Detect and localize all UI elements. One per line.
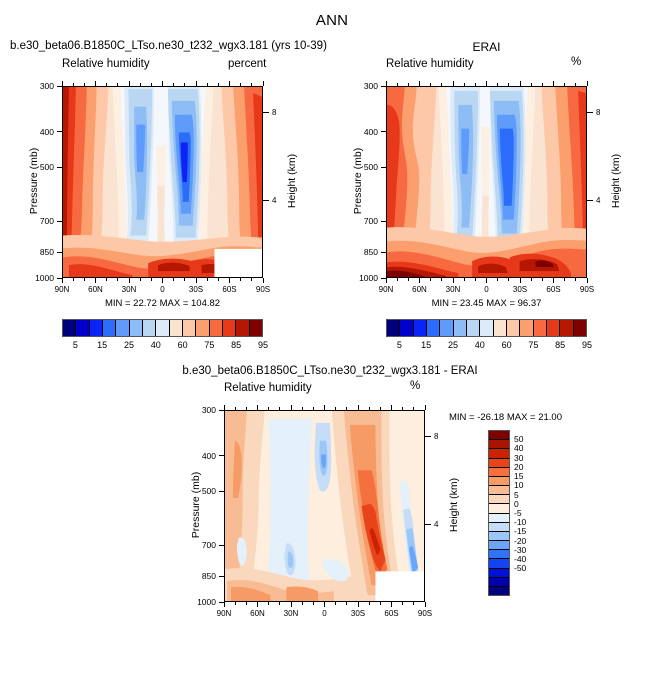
colorbar-tick-label: 30 <box>514 454 523 462</box>
panel-model-unit-label: percent <box>228 58 266 70</box>
plot-diff-ylabel-tick: 1000 <box>188 597 216 607</box>
plot-diff-relative-humidity <box>224 410 425 602</box>
colorbar-swatch <box>560 320 573 336</box>
plot-model-relative-humidity <box>62 86 263 278</box>
plot-diff-xlabel: 90S <box>413 609 437 618</box>
colorbar-tick-label: 40 <box>514 444 523 452</box>
colorbar-diff <box>488 430 510 596</box>
plot-model-xtick <box>229 81 230 86</box>
plot-diff-ytick <box>219 545 224 546</box>
plot-model-ytick <box>57 167 62 168</box>
panel-diff-title: b.e30_beta06.B1850C_LTso.ne30_t232_wgx3.… <box>120 365 540 377</box>
plot-obs-xtick-minor <box>497 83 498 86</box>
plot-model-xtick-minor <box>151 83 152 86</box>
plot-obs-xtick <box>587 81 588 86</box>
main-title: ANN <box>0 12 664 29</box>
colorbar-tick-label: 75 <box>528 340 538 350</box>
plot-diff-xtick-minor <box>380 407 381 410</box>
plot-model-xtick-minor <box>73 278 74 281</box>
colorbar-swatch <box>76 320 89 336</box>
plot-obs-xtick-minor <box>542 278 543 281</box>
colorbar-swatch <box>489 440 509 449</box>
plot-obs-ytick <box>381 86 386 87</box>
colorbar-swatch <box>400 320 413 336</box>
colorbar-swatch <box>494 320 507 336</box>
plot-obs-xtick-minor <box>575 278 576 281</box>
plot-obs-xlabel: 0 <box>475 285 499 294</box>
plot-model-xtick-minor <box>218 278 219 281</box>
colorbar-swatch <box>440 320 453 336</box>
plot-obs-xtick-minor <box>464 83 465 86</box>
panel-model-variable-label: Relative humidity <box>62 58 150 70</box>
colorbar-tick-label: 60 <box>502 340 512 350</box>
plot-diff-xtick <box>291 405 292 410</box>
plot-obs-xlabel: 60S <box>542 285 566 294</box>
colorbar-tick-label: 15 <box>421 340 431 350</box>
plot-diff-xtick <box>425 602 426 607</box>
panel-obs-variable-label: Relative humidity <box>386 58 474 70</box>
plot-obs-xtick <box>386 278 387 283</box>
plot-diff-xtick-minor <box>302 602 303 605</box>
plot-model-ytick <box>57 278 62 279</box>
plot-model-ytick <box>57 86 62 87</box>
plot-diff-xtick <box>257 602 258 607</box>
colorbar-tick-label: -40 <box>514 555 526 563</box>
plot-obs-xtick-minor <box>542 83 543 86</box>
colorbar-tick-label: 85 <box>555 340 565 350</box>
colorbar-tick-label: 0 <box>514 500 519 508</box>
colorbar-model-labels: 515254060758595 <box>62 340 263 354</box>
colorbar-swatch <box>170 320 183 336</box>
plot-model-xtick-minor <box>84 278 85 281</box>
colorbar-swatch <box>489 468 509 477</box>
plot-diff-xtick-minor <box>268 602 269 605</box>
plot-model-xtick-minor <box>106 83 107 86</box>
plot-model-xtick <box>129 81 130 86</box>
plot-obs-ylabel-tick: 400 <box>350 127 378 137</box>
colorbar-tick-label: 20 <box>514 463 523 471</box>
panel-obs-unit-label: % <box>571 56 581 68</box>
plot-model-xtick-minor <box>117 278 118 281</box>
colorbar-swatch <box>63 320 76 336</box>
plot-obs-xtick-minor <box>408 278 409 281</box>
plot-model-ytick <box>57 252 62 253</box>
colorbar-tick-label: 5 <box>73 340 78 350</box>
colorbar-tick-label: 95 <box>582 340 592 350</box>
plot-model-ylabel-tick: 400 <box>26 127 54 137</box>
plot-obs-y2label: Height (km) <box>610 121 622 241</box>
plot-diff-xtick <box>324 602 325 607</box>
plot-diff-ytick <box>219 576 224 577</box>
plot-diff-xtick-minor <box>246 407 247 410</box>
colorbar-tick-label: 95 <box>258 340 268 350</box>
plot-obs-xtick <box>520 278 521 283</box>
colorbar-tick-label: 15 <box>97 340 107 350</box>
colorbar-swatch <box>90 320 103 336</box>
plot-obs-y2tick <box>587 200 593 201</box>
plot-model-xlabel: 90N <box>50 285 74 294</box>
colorbar-tick-label: 40 <box>475 340 485 350</box>
colorbar-tick-label: 10 <box>514 481 523 489</box>
colorbar-swatch <box>454 320 467 336</box>
plot-diff-xtick <box>358 405 359 410</box>
colorbar-swatch <box>210 320 223 336</box>
plot-obs-xtick <box>520 81 521 86</box>
plot-obs-xtick-minor <box>475 83 476 86</box>
colorbar-swatch <box>183 320 196 336</box>
plot-model-ylabel-tick: 500 <box>26 162 54 172</box>
colorbar-swatch <box>489 504 509 513</box>
colorbar-swatch <box>489 587 509 595</box>
colorbar-tick-label: -10 <box>514 518 526 526</box>
plot-obs-xlabel: 90S <box>575 285 599 294</box>
plot-diff-xtick <box>391 602 392 607</box>
panel-model-title: b.e30_beta06.B1850C_LTso.ne30_t232_wgx3.… <box>10 40 327 52</box>
colorbar-swatch <box>534 320 547 336</box>
colorbar-swatch <box>489 431 509 440</box>
plot-diff-xlabel: 30N <box>279 609 303 618</box>
plot-obs-xtick-minor <box>497 278 498 281</box>
plot-obs-ylabel-tick: 1000 <box>350 273 378 283</box>
plot-diff-xtick-minor <box>346 602 347 605</box>
plot-model-xtick-minor <box>251 83 252 86</box>
plot-diff-ylabel-tick: 850 <box>188 571 216 581</box>
plot-obs-xtick <box>486 81 487 86</box>
plot-diff-xtick-minor <box>380 602 381 605</box>
plot-obs-xtick-minor <box>441 278 442 281</box>
plot-obs-xtick-minor <box>430 83 431 86</box>
colorbar-swatch <box>480 320 493 336</box>
colorbar-swatch <box>103 320 116 336</box>
plot-obs-ylabel-tick: 500 <box>350 162 378 172</box>
plot-obs-xlabel: 30N <box>441 285 465 294</box>
plot-obs-xtick <box>553 81 554 86</box>
colorbar-tick-label: 40 <box>151 340 161 350</box>
plot-obs-y2tick <box>587 112 593 113</box>
plot-model-xtick-minor <box>251 278 252 281</box>
colorbar-tick-label: 5 <box>514 491 519 499</box>
plot-diff-y2tick <box>425 524 431 525</box>
plot-diff-xtick <box>358 602 359 607</box>
plot-diff-xlabel: 30S <box>346 609 370 618</box>
plot-obs-xtick-minor <box>531 83 532 86</box>
plot-obs-ylabel-tick: 850 <box>350 247 378 257</box>
plot-diff-xtick-minor <box>402 407 403 410</box>
plot-obs-xtick-minor <box>430 278 431 281</box>
plot-diff-xtick-minor <box>335 602 336 605</box>
plot-diff-xtick <box>391 405 392 410</box>
plot-model-xtick-minor <box>140 83 141 86</box>
plot-obs-y2label-tick: 4 <box>596 196 600 205</box>
plot-obs-xtick-minor <box>531 278 532 281</box>
plot-obs-xtick-minor <box>397 83 398 86</box>
colorbar-tick-label: 25 <box>448 340 458 350</box>
plot-diff-xtick <box>224 602 225 607</box>
plot-model-xlabel: 90S <box>251 285 275 294</box>
plot-model-xtick <box>263 278 264 283</box>
plot-diff-xlabel: 0 <box>313 609 337 618</box>
colorbar-model <box>62 319 263 337</box>
plot-model-xtick-minor <box>106 278 107 281</box>
colorbar-swatch <box>143 320 156 336</box>
plot-diff-minmax: MIN = -26.18 MAX = 21.00 <box>449 412 562 423</box>
plot-model-xtick-minor <box>117 83 118 86</box>
plot-model-xtick-minor <box>207 83 208 86</box>
plot-obs-xtick-minor <box>441 83 442 86</box>
colorbar-swatch <box>156 320 169 336</box>
plot-obs-xtick-minor <box>408 83 409 86</box>
colorbar-swatch <box>489 559 509 568</box>
plot-obs-xlabel: 60N <box>408 285 432 294</box>
plot-model-xlabel: 30S <box>184 285 208 294</box>
plot-model-xtick-minor <box>207 278 208 281</box>
colorbar-swatch <box>489 523 509 532</box>
plot-diff-y2tick <box>425 436 431 437</box>
plot-model-xtick <box>263 81 264 86</box>
plot-obs-xlabel: 30S <box>508 285 532 294</box>
plot-model-ylabel-tick: 700 <box>26 216 54 226</box>
plot-model-xtick <box>196 278 197 283</box>
colorbar-swatch <box>489 486 509 495</box>
colorbar-tick-label: 50 <box>514 435 523 443</box>
plot-model-xtick <box>95 81 96 86</box>
colorbar-swatch <box>489 477 509 486</box>
plot-model-y2tick <box>263 112 269 113</box>
plot-model-minmax: MIN = 22.72 MAX = 104.82 <box>62 298 263 309</box>
plot-model-xlabel: 0 <box>151 285 175 294</box>
plot-model-xtick-minor <box>173 278 174 281</box>
plot-obs-xtick <box>587 278 588 283</box>
plot-diff-ytick <box>219 602 224 603</box>
plot-obs-xtick-minor <box>475 278 476 281</box>
colorbar-tick-label: -50 <box>514 564 526 572</box>
plot-obs-ytick <box>381 221 386 222</box>
plot-model-ylabel-tick: 300 <box>26 81 54 91</box>
plot-obs-xtick <box>419 278 420 283</box>
colorbar-obs-labels: 515254060758595 <box>386 340 587 354</box>
plot-obs-ylabel-tick: 700 <box>350 216 378 226</box>
plot-diff-ytick <box>219 455 224 456</box>
colorbar-swatch <box>489 495 509 504</box>
colorbar-tick-label: -15 <box>514 527 526 535</box>
plot-diff-xtick <box>425 405 426 410</box>
plot-diff-xlabel: 60N <box>246 609 270 618</box>
plot-obs-y2label-tick: 8 <box>596 108 600 117</box>
plot-obs-xtick-minor <box>397 278 398 281</box>
colorbar-swatch <box>414 320 427 336</box>
plot-obs-ytick <box>381 252 386 253</box>
plot-diff-xtick-minor <box>335 407 336 410</box>
plot-obs-xtick <box>553 278 554 283</box>
colorbar-swatch <box>489 541 509 550</box>
plot-model-xlabel: 30N <box>117 285 141 294</box>
plot-model-y2label: Height (km) <box>286 121 298 241</box>
plot-diff-xtick-minor <box>246 602 247 605</box>
plot-obs-contours <box>387 87 586 277</box>
plot-model-contours <box>63 87 262 277</box>
plot-diff-ylabel-tick: 300 <box>188 405 216 415</box>
colorbar-swatch <box>130 320 143 336</box>
colorbar-diff-labels: 50403020151050-5-10-15-20-30-40-50 <box>514 430 554 596</box>
colorbar-swatch <box>196 320 209 336</box>
plot-diff-ylabel-tick: 500 <box>188 486 216 496</box>
plot-obs-minmax: MIN = 23.45 MAX = 96.37 <box>386 298 587 309</box>
plot-model-xtick-minor <box>173 83 174 86</box>
plot-obs-xtick-minor <box>464 278 465 281</box>
plot-diff-xtick-minor <box>369 407 370 410</box>
plot-model-xtick <box>196 81 197 86</box>
plot-diff-xtick-minor <box>369 602 370 605</box>
plot-obs-xtick-minor <box>508 278 509 281</box>
plot-diff-xtick-minor <box>279 602 280 605</box>
plot-diff-xtick-minor <box>268 407 269 410</box>
plot-diff-xtick-minor <box>402 602 403 605</box>
colorbar-swatch <box>250 320 262 336</box>
plot-model-xtick <box>162 278 163 283</box>
plot-diff-xtick-minor <box>279 407 280 410</box>
plot-obs-ytick <box>381 278 386 279</box>
plot-obs-xtick <box>486 278 487 283</box>
plot-model-xtick-minor <box>84 83 85 86</box>
colorbar-tick-label: 25 <box>124 340 134 350</box>
plot-obs-xtick-minor <box>564 278 565 281</box>
colorbar-tick-label: 60 <box>178 340 188 350</box>
plot-model-xtick-minor <box>184 83 185 86</box>
plot-model-xtick <box>229 278 230 283</box>
plot-diff-y2label-tick: 8 <box>434 432 438 441</box>
colorbar-swatch <box>489 569 509 578</box>
plot-model-ylabel-tick: 1000 <box>26 273 54 283</box>
plot-obs-relative-humidity <box>386 86 587 278</box>
colorbar-swatch <box>489 459 509 468</box>
plot-diff-xtick <box>324 405 325 410</box>
plot-diff-y2label-tick: 4 <box>434 520 438 529</box>
plot-model-y2label-tick: 4 <box>272 196 276 205</box>
plot-diff-ytick <box>219 491 224 492</box>
plot-diff-xtick-minor <box>413 602 414 605</box>
colorbar-tick-label: 5 <box>397 340 402 350</box>
colorbar-swatch <box>489 514 509 523</box>
colorbar-obs <box>386 319 587 337</box>
plot-model-ytick <box>57 131 62 132</box>
plot-model-xlabel: 60N <box>84 285 108 294</box>
plot-diff-ylabel-tick: 400 <box>188 451 216 461</box>
plot-diff-xlabel: 60S <box>380 609 404 618</box>
plot-obs-xtick <box>419 81 420 86</box>
plot-model-xtick-minor <box>151 278 152 281</box>
plot-diff-ytick <box>219 410 224 411</box>
plot-model-xtick-minor <box>73 83 74 86</box>
plot-model-xtick-minor <box>184 278 185 281</box>
panel-diff-unit-label: % <box>410 380 420 392</box>
plot-obs-xtick <box>453 81 454 86</box>
colorbar-swatch <box>489 550 509 559</box>
plot-model-xtick <box>162 81 163 86</box>
plot-diff-xtick-minor <box>413 407 414 410</box>
colorbar-swatch <box>520 320 533 336</box>
plot-model-xtick <box>62 278 63 283</box>
colorbar-swatch <box>489 578 509 587</box>
plot-diff-xtick-minor <box>313 602 314 605</box>
colorbar-tick-label: 75 <box>204 340 214 350</box>
plot-diff-xtick <box>257 405 258 410</box>
plot-model-xtick-minor <box>240 83 241 86</box>
colorbar-swatch <box>507 320 520 336</box>
plot-diff-contours <box>225 411 424 601</box>
plot-model-y2tick <box>263 200 269 201</box>
colorbar-swatch <box>489 449 509 458</box>
plot-diff-xlabel: 90N <box>212 609 236 618</box>
colorbar-swatch <box>574 320 586 336</box>
colorbar-swatch <box>427 320 440 336</box>
colorbar-swatch <box>547 320 560 336</box>
plot-model-y2label-tick: 8 <box>272 108 276 117</box>
plot-obs-ytick <box>381 167 386 168</box>
plot-diff-y2label: Height (km) <box>448 445 460 565</box>
plot-obs-xtick <box>453 278 454 283</box>
plot-diff-xtick <box>291 602 292 607</box>
colorbar-swatch <box>223 320 236 336</box>
plot-diff-xtick-minor <box>313 407 314 410</box>
colorbar-tick-label: 15 <box>514 472 523 480</box>
plot-model-ylabel-tick: 850 <box>26 247 54 257</box>
plot-obs-xtick-minor <box>575 83 576 86</box>
plot-diff-xtick-minor <box>235 407 236 410</box>
plot-obs-ylabel-tick: 300 <box>350 81 378 91</box>
plot-model-xtick-minor <box>240 278 241 281</box>
colorbar-swatch <box>387 320 400 336</box>
plot-diff-xtick-minor <box>302 407 303 410</box>
colorbar-tick-label: -5 <box>514 509 522 517</box>
plot-diff-xtick-minor <box>346 407 347 410</box>
panel-diff-variable-label: Relative humidity <box>224 382 312 394</box>
colorbar-swatch <box>116 320 129 336</box>
colorbar-swatch <box>489 532 509 541</box>
colorbar-tick-label: -20 <box>514 537 526 545</box>
plot-model-xtick-minor <box>218 83 219 86</box>
plot-obs-ytick <box>381 131 386 132</box>
plot-model-xtick <box>129 278 130 283</box>
plot-model-xlabel: 60S <box>218 285 242 294</box>
plot-diff-xtick-minor <box>235 602 236 605</box>
colorbar-swatch <box>236 320 249 336</box>
plot-obs-xtick-minor <box>564 83 565 86</box>
plot-model-xtick <box>95 278 96 283</box>
panel-obs-title: ERAI <box>386 40 587 54</box>
colorbar-swatch <box>467 320 480 336</box>
plot-model-xtick-minor <box>140 278 141 281</box>
plot-diff-ylabel-tick: 700 <box>188 540 216 550</box>
plot-obs-xlabel: 90N <box>374 285 398 294</box>
colorbar-tick-label: 85 <box>231 340 241 350</box>
plot-obs-xtick-minor <box>508 83 509 86</box>
plot-model-ytick <box>57 221 62 222</box>
colorbar-tick-label: -30 <box>514 546 526 554</box>
